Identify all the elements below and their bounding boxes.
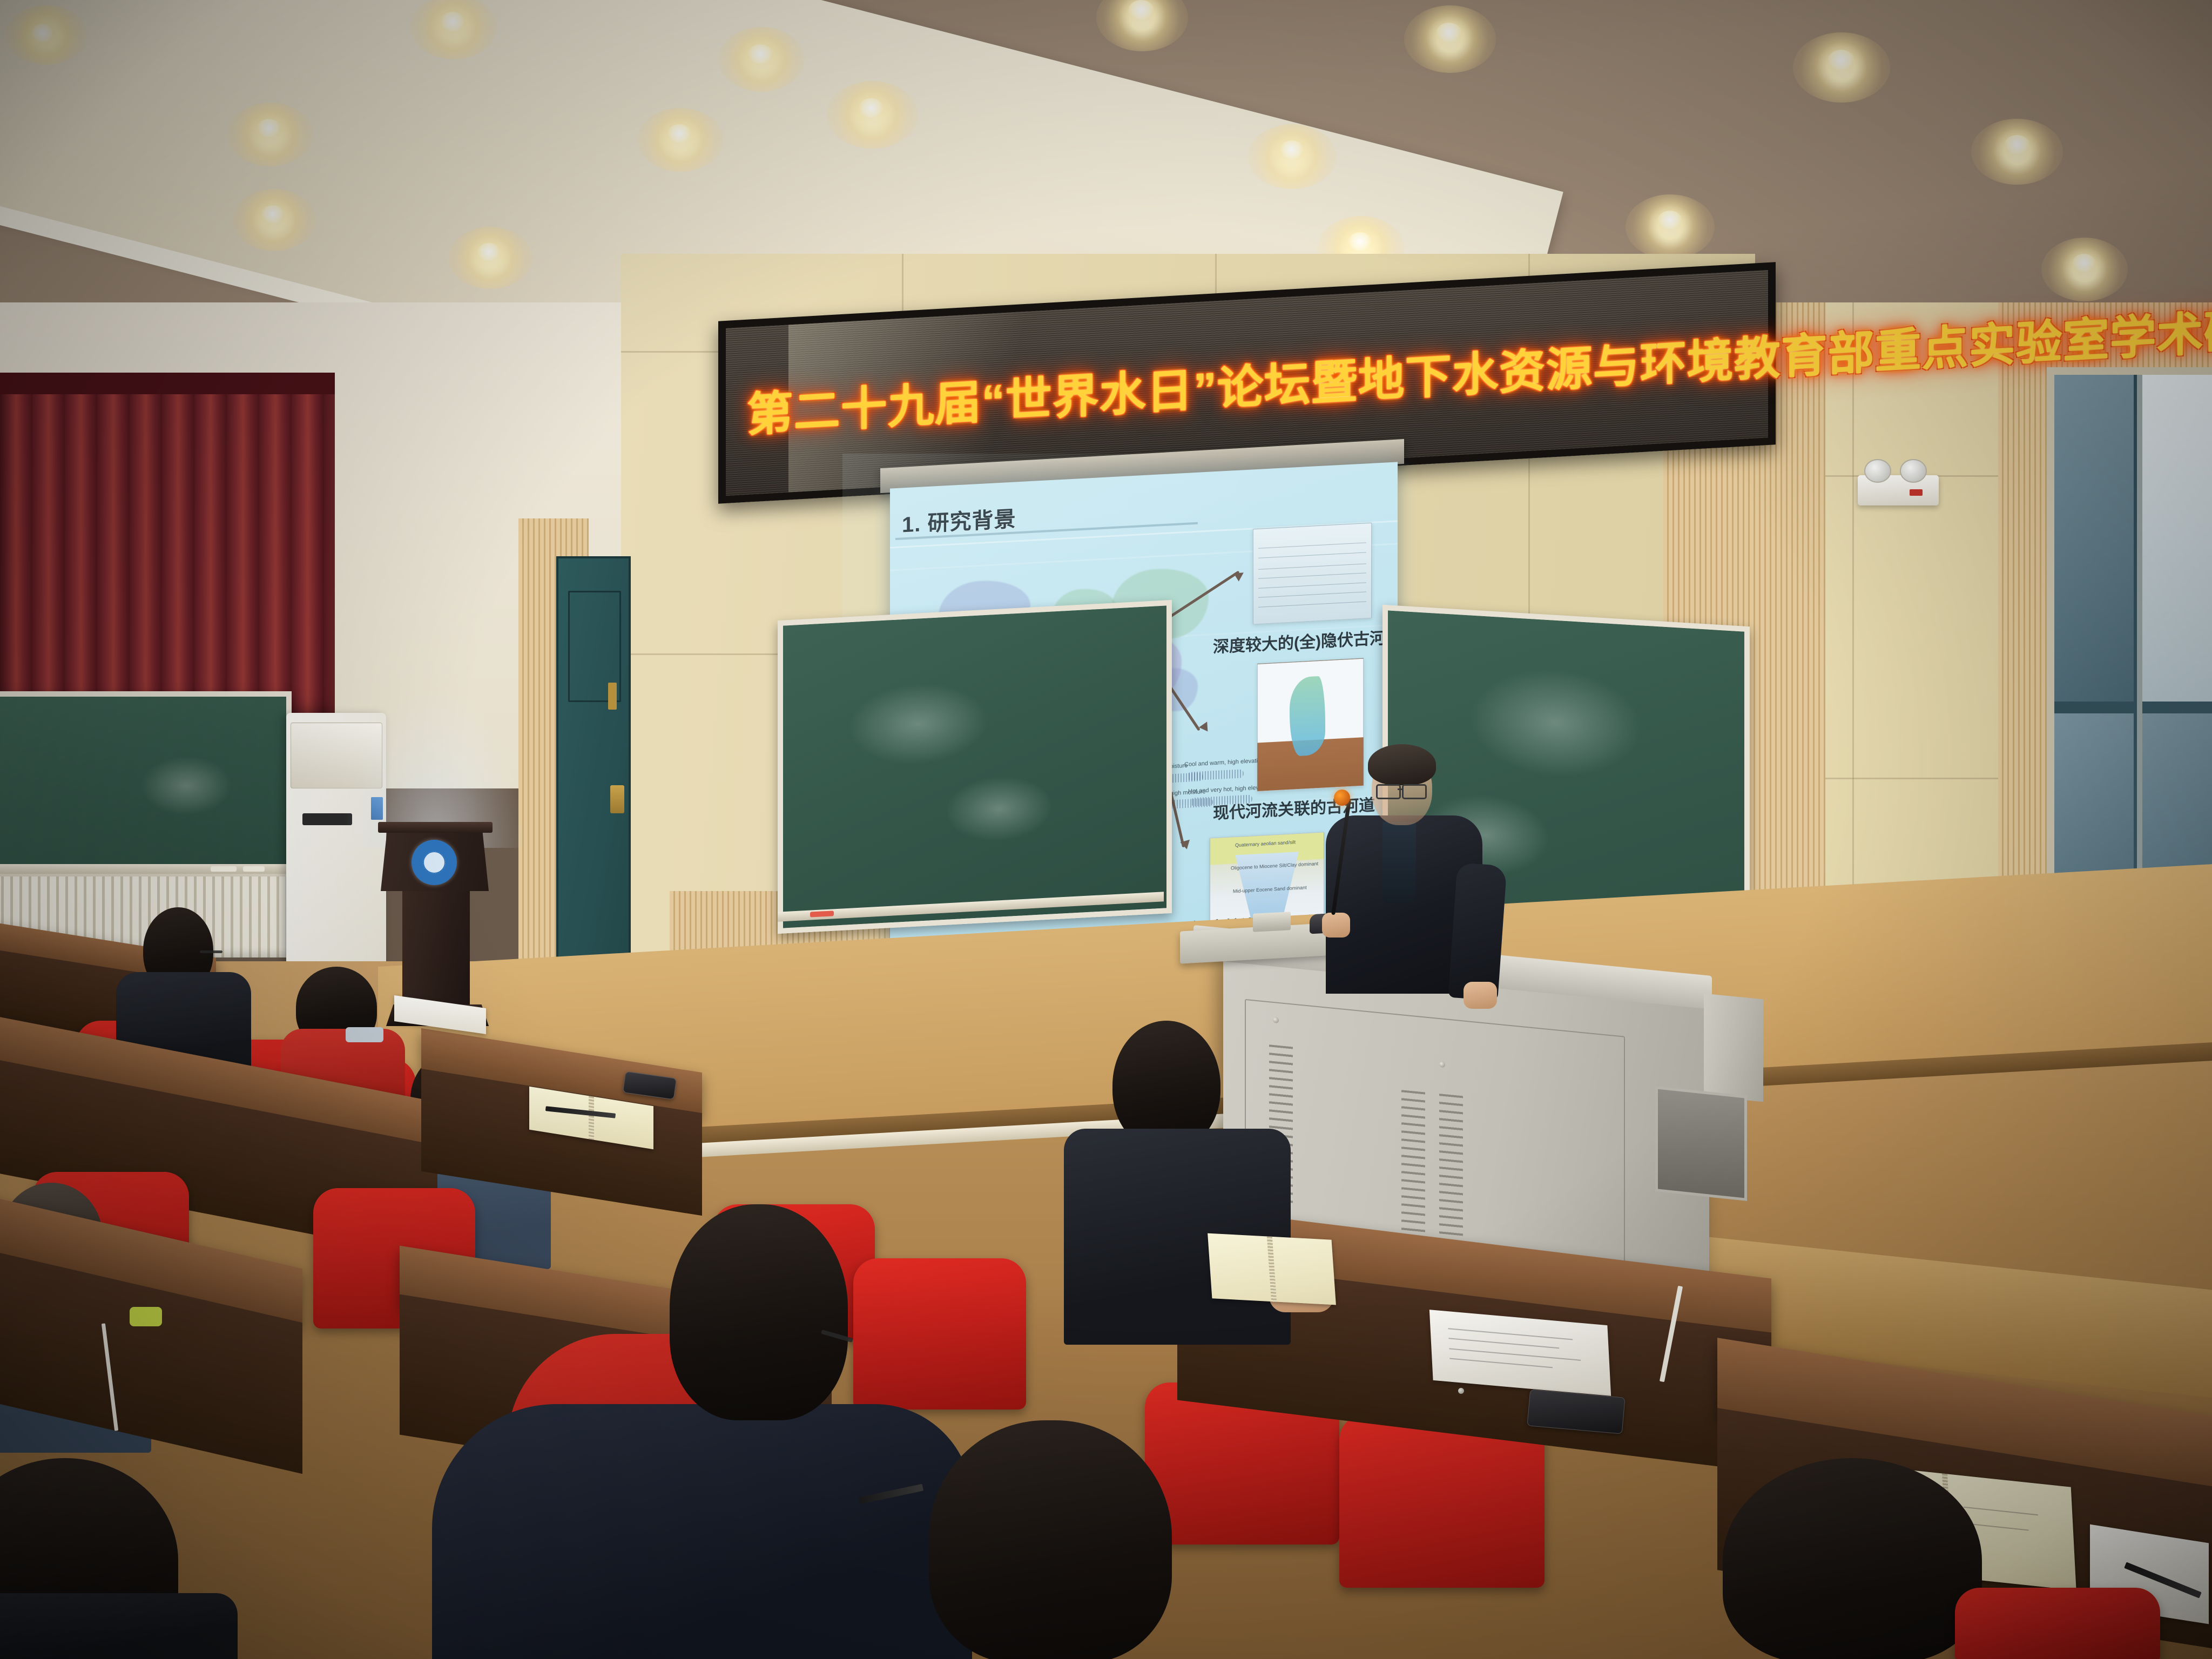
downlight-core	[1280, 140, 1304, 159]
speaker-hair	[1368, 744, 1436, 785]
downlight-core	[2073, 254, 2095, 272]
downlight-core	[667, 124, 691, 143]
downlight-core	[261, 205, 284, 223]
emergency-lamp	[1864, 459, 1891, 483]
slide-label-deep: 深度较大的(全)隐伏古河道	[1213, 624, 1398, 657]
downlight-core	[2005, 135, 2029, 154]
remote-receiver-box[interactable]	[1253, 912, 1291, 932]
downlight-core	[748, 44, 773, 64]
chair[interactable]	[1955, 1588, 2160, 1659]
speaker-shirt	[1382, 822, 1416, 903]
downlight-core	[1437, 23, 1461, 42]
audience-jacket-navy	[432, 1404, 972, 1659]
speaker-glasses-bridge	[1398, 788, 1403, 790]
downlight-core	[1828, 50, 1854, 70]
slide-thumb-seismic-section	[1253, 523, 1372, 625]
downlight-core	[1348, 232, 1372, 251]
lecture-hall-photo: 第二十九届“世界水日”论坛暨地下水资源与环境教育部重点实验室学术研讨会 1. 研…	[0, 0, 2212, 1659]
speaker-glasses	[1402, 784, 1427, 799]
slide-thumb-block-diagram	[1257, 658, 1364, 792]
audience-glasses	[200, 950, 222, 953]
lectern-body	[402, 890, 470, 1009]
microphone-icon	[1334, 790, 1350, 806]
console-side-arm	[1704, 994, 1763, 1102]
door-lock-icon[interactable]	[608, 683, 617, 710]
arrow-head-icon	[1234, 569, 1246, 582]
arrow-head-icon	[1180, 840, 1191, 851]
downlight-core	[440, 12, 465, 31]
chalkboard-left	[0, 691, 292, 880]
chalkboard-center	[778, 600, 1172, 934]
valley-caption: Quaternary aeolian sand/silt	[1235, 839, 1296, 848]
downlight-core	[1658, 211, 1682, 229]
console-monitor[interactable]	[1655, 1086, 1747, 1201]
chair[interactable]	[853, 1258, 1026, 1410]
speaker-glasses	[1376, 784, 1401, 799]
downlight-core	[859, 98, 884, 118]
legend-caption: Cool and warm, high elevation	[1184, 757, 1264, 768]
legend-squiggle	[1187, 769, 1244, 781]
speaker-hand	[1322, 913, 1350, 938]
audience-head	[1723, 1458, 1982, 1659]
audience-collar	[346, 1027, 383, 1042]
audience-torso	[0, 1593, 238, 1659]
downlight-core	[1129, 0, 1154, 19]
label-deep-text: 深度较大的(全)隐伏古河道	[1213, 629, 1398, 656]
downlight-core	[257, 119, 281, 137]
desk-screw	[1458, 1388, 1464, 1394]
speaker-arm	[1448, 862, 1507, 1001]
cable-clip	[130, 1307, 162, 1326]
audience-head	[670, 1204, 848, 1420]
audience-head	[929, 1420, 1172, 1659]
emergency-lamp	[1900, 459, 1927, 483]
lectern-cap	[378, 822, 493, 833]
door-handle[interactable]	[610, 785, 624, 813]
arrow-head-icon	[1199, 721, 1212, 734]
downlight-core	[31, 24, 54, 42]
emergency-led	[1910, 489, 1923, 496]
downlight-core	[477, 243, 500, 261]
curtain-rail	[0, 373, 335, 394]
university-seal-icon	[412, 840, 457, 885]
window-curtain	[0, 378, 335, 724]
speaker-hand	[1464, 982, 1497, 1009]
ac-display	[302, 813, 352, 825]
chalk-tray	[0, 864, 286, 875]
open-notebook[interactable]	[1208, 1233, 1336, 1305]
seal-inner	[423, 851, 446, 874]
service-door[interactable]	[556, 556, 631, 993]
emergency-light-icon	[1858, 475, 1939, 505]
